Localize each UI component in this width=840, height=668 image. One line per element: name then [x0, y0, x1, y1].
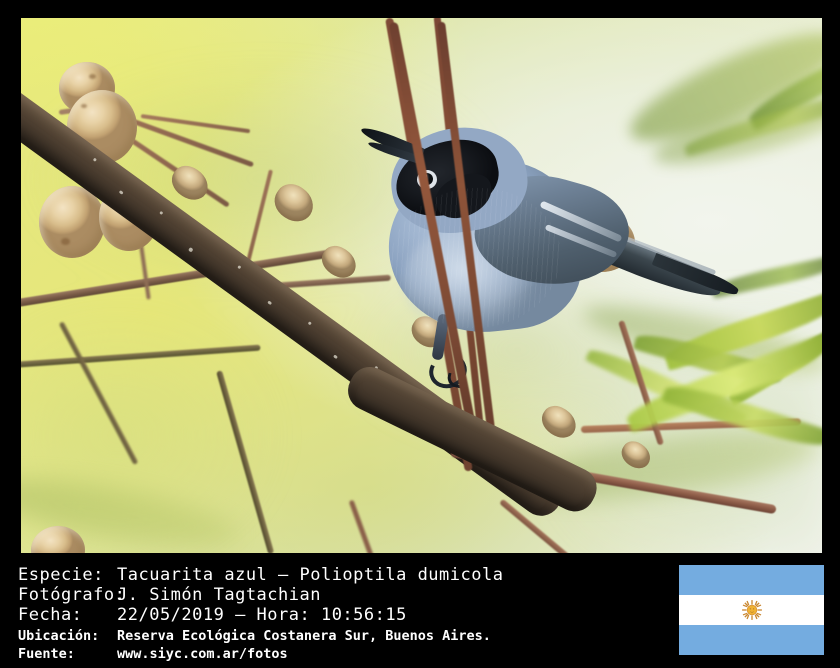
caption-row-ubicacion: Ubicación: Reserva Ecológica Costanera S…: [18, 628, 99, 644]
photo-caption-card: Especie: Tacuarita azul – Polioptila dum…: [0, 0, 840, 668]
flag-band-top: [679, 565, 824, 595]
caption-row-fecha: Fecha: 22/05/2019 – Hora: 10:56:15: [18, 605, 82, 625]
caption-label: Ubicación:: [18, 628, 99, 644]
caption-panel: Especie: Tacuarita azul – Polioptila dum…: [0, 553, 840, 668]
caption-value: Reserva Ecológica Costanera Sur, Buenos …: [117, 628, 491, 644]
bird-photograph: [21, 18, 822, 553]
caption-label: Fotógrafo:: [18, 585, 125, 605]
bird: [351, 118, 671, 378]
caption-label: Fuente:: [18, 646, 75, 662]
caption-row-especie: Especie: Tacuarita azul – Polioptila dum…: [18, 565, 104, 585]
caption-value: Tacuarita azul – Polioptila dumicola: [117, 565, 503, 585]
argentina-flag: [679, 565, 824, 655]
caption-value: J. Simón Tagtachian: [117, 585, 321, 605]
flag-band-bottom: [679, 625, 824, 655]
caption-value: www.siyc.com.ar/fotos: [117, 646, 288, 662]
caption-label: Fecha:: [18, 605, 82, 625]
caption-row-fuente: Fuente: www.siyc.com.ar/fotos: [18, 646, 75, 662]
caption-row-fotografo: Fotógrafo: J. Simón Tagtachian: [18, 585, 125, 605]
caption-label: Especie:: [18, 565, 104, 585]
caption-value: 22/05/2019 – Hora: 10:56:15: [117, 605, 407, 625]
sol-de-mayo-icon: [741, 599, 763, 621]
